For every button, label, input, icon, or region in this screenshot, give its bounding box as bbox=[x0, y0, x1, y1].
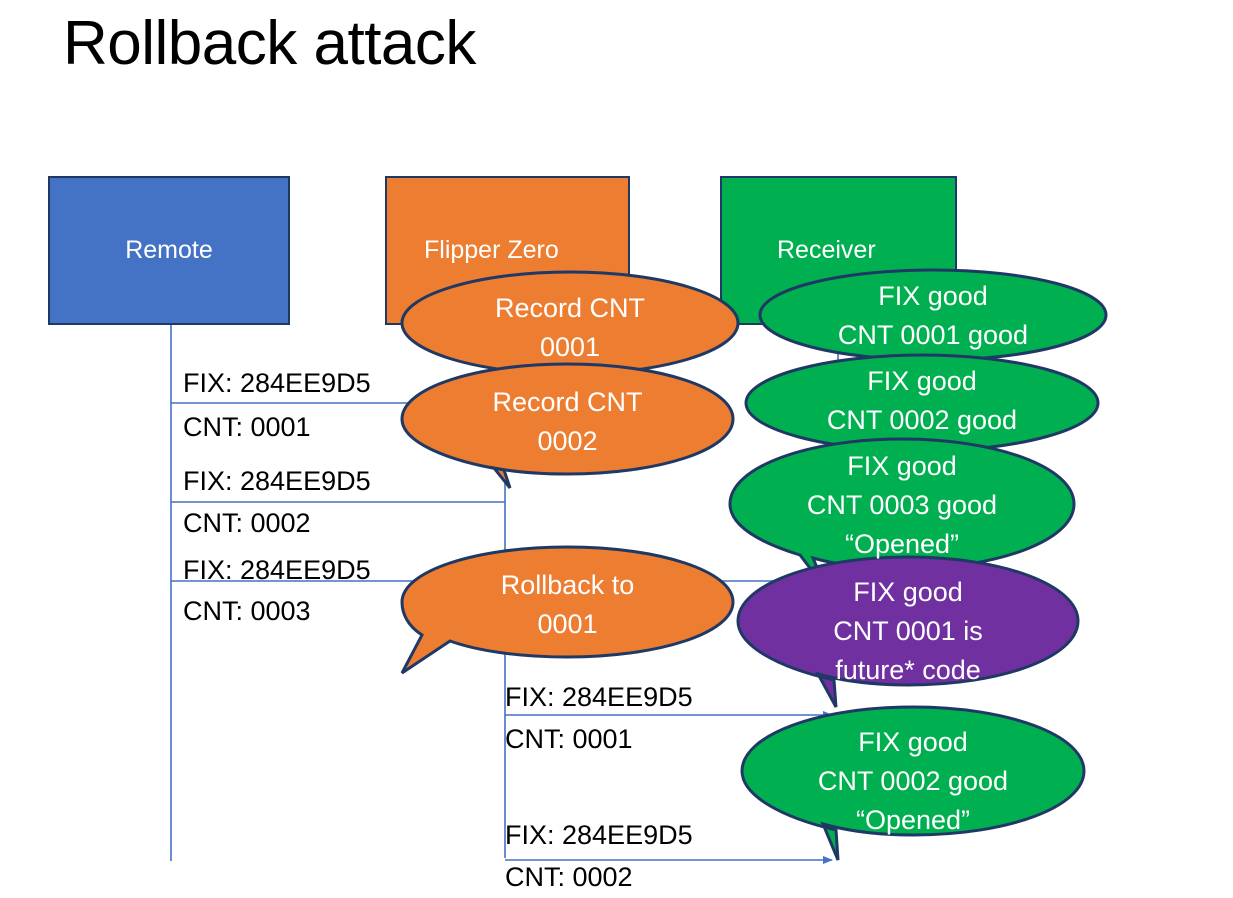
message-label-m2-fix: FIX: 284EE9D5 bbox=[183, 468, 371, 495]
message-label-m5-fix: FIX: 284EE9D5 bbox=[505, 822, 693, 849]
message-label-m5-cnt: CNT: 0002 bbox=[505, 864, 633, 891]
message-label-m3-fix: FIX: 284EE9D5 bbox=[183, 557, 371, 584]
message-label-m1-cnt: CNT: 0001 bbox=[183, 414, 311, 441]
message-label-m1-fix: FIX: 284EE9D5 bbox=[183, 370, 371, 397]
message-label-m3-cnt: CNT: 0003 bbox=[183, 598, 311, 625]
callout-rollback-to-0001[interactable]: Rollback to 0001 bbox=[400, 545, 735, 673]
actor-label-receiver: Receiver bbox=[777, 237, 876, 265]
slide-canvas: Rollback attack Remote Flipper Zero Rece… bbox=[0, 0, 1233, 898]
callout-fix-good-cnt-0001-future-code[interactable]: FIX good CNT 0001 is future* code bbox=[736, 555, 1080, 695]
actor-label-remote: Remote bbox=[125, 237, 213, 265]
page-title: Rollback attack bbox=[63, 8, 476, 79]
callout-fix-good-cnt-0003-opened[interactable]: FIX good CNT 0003 good “Opened” bbox=[728, 437, 1076, 573]
message-label-m4-cnt: CNT: 0001 bbox=[505, 726, 633, 753]
callout-record-cnt-0002[interactable]: Record CNT 0002 bbox=[400, 362, 735, 489]
callout-fix-good-cnt-0001-good[interactable]: FIX good CNT 0001 good bbox=[758, 268, 1108, 364]
callout-fix-good-cnt-0002-opened[interactable]: FIX good CNT 0002 good “Opened” bbox=[740, 705, 1086, 845]
message-label-m2-cnt: CNT: 0002 bbox=[183, 510, 311, 537]
actor-box-remote[interactable]: Remote bbox=[48, 176, 290, 325]
actor-label-flipper: Flipper Zero bbox=[424, 237, 559, 265]
